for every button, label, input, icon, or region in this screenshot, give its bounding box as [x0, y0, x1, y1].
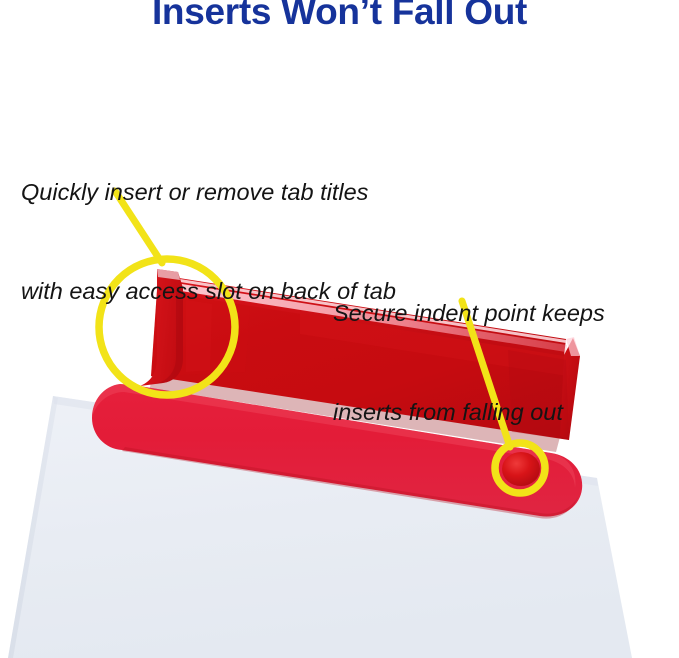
page-title: Inserts Won’t Fall Out [0, 0, 679, 33]
callout-left-line-1: Quickly insert or remove tab titles [21, 176, 396, 209]
infographic-canvas: Inserts Won’t Fall Out Quickly insert or… [0, 0, 679, 658]
callout-right-line-2: inserts from falling out [333, 396, 605, 429]
callout-right-line-1: Secure indent point keeps [333, 297, 605, 330]
callout-right-text: Secure indent point keeps inserts from f… [333, 231, 605, 495]
